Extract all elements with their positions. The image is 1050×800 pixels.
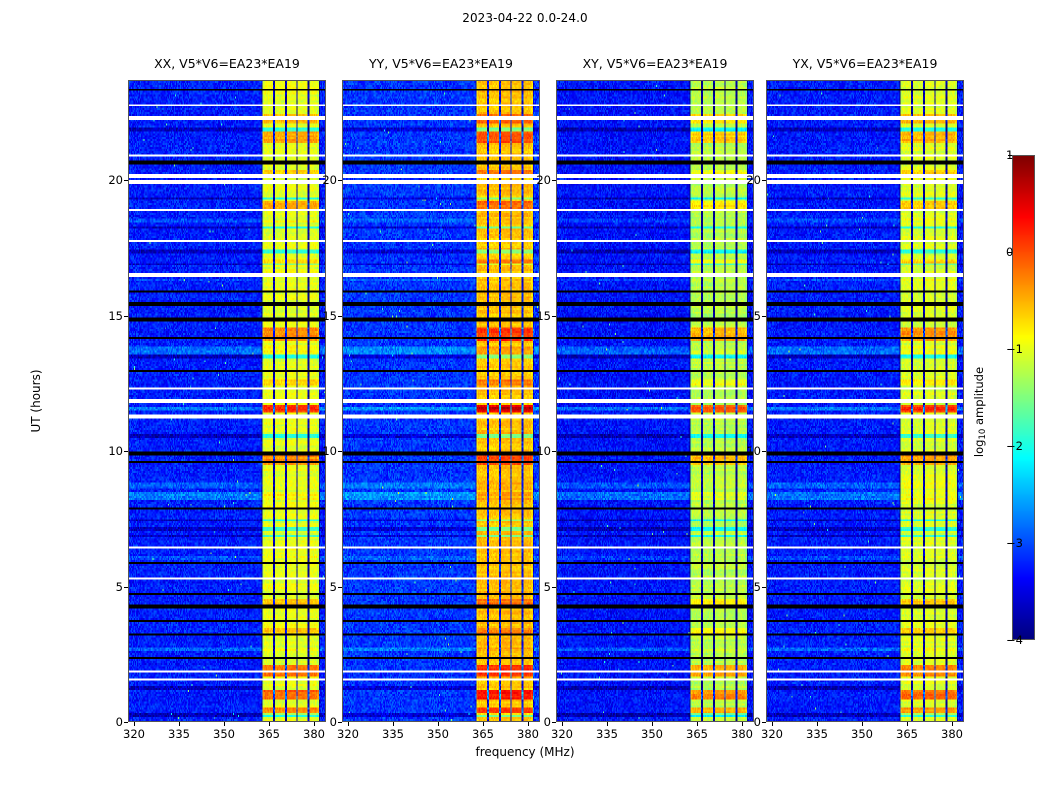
x-tick-mark bbox=[907, 722, 908, 726]
x-tick-mark bbox=[862, 722, 863, 726]
x-tick-mark bbox=[652, 722, 653, 726]
y-tick-mark bbox=[762, 722, 766, 723]
spectrogram-image-yy bbox=[343, 81, 539, 721]
y-tick-mark bbox=[552, 180, 556, 181]
colorbar-tick-mark bbox=[1008, 155, 1012, 156]
colorbar-label-tail: amplitude bbox=[972, 367, 986, 429]
y-tick-label: 15 bbox=[746, 309, 761, 323]
y-tick-mark bbox=[338, 451, 342, 452]
y-tick-label: 15 bbox=[108, 309, 123, 323]
panel-plot-area-yy[interactable] bbox=[342, 80, 540, 722]
y-tick-label: 20 bbox=[536, 173, 551, 187]
y-tick-label: 0 bbox=[116, 715, 123, 729]
spectrogram-panel-xy[interactable]: XY, V5*V6=EA23*EA19320335350365380051015… bbox=[556, 80, 754, 722]
panel-plot-area-xy[interactable] bbox=[556, 80, 754, 722]
x-tick-mark bbox=[817, 722, 818, 726]
x-tick-label: 365 bbox=[686, 727, 708, 741]
colorbar-tick-mark bbox=[1008, 640, 1012, 641]
figure-canvas: 2023-04-22 0.0-24.0 UT (hours) frequency… bbox=[0, 0, 1050, 800]
y-tick-mark bbox=[338, 587, 342, 588]
colorbar-tick-mark bbox=[1008, 446, 1012, 447]
x-tick-label: 350 bbox=[641, 727, 663, 741]
panel-plot-area-yx[interactable] bbox=[766, 80, 964, 722]
y-tick-label: 10 bbox=[108, 444, 123, 458]
x-tick-mark bbox=[179, 722, 180, 726]
y-tick-mark bbox=[762, 587, 766, 588]
x-tick-label: 365 bbox=[472, 727, 494, 741]
x-tick-label: 320 bbox=[551, 727, 573, 741]
y-tick-label: 5 bbox=[330, 580, 337, 594]
x-axis-label: frequency (MHz) bbox=[0, 745, 1050, 759]
y-tick-label: 15 bbox=[322, 309, 337, 323]
x-tick-label: 335 bbox=[596, 727, 618, 741]
x-tick-mark bbox=[393, 722, 394, 726]
colorbar-tick-mark bbox=[1008, 252, 1012, 253]
y-tick-mark bbox=[552, 451, 556, 452]
x-tick-label: 380 bbox=[941, 727, 963, 741]
colorbar-label-main: log bbox=[972, 440, 986, 458]
panel-plot-area-xx[interactable] bbox=[128, 80, 326, 722]
x-tick-label: 350 bbox=[851, 727, 873, 741]
panel-title-yy: YY, V5*V6=EA23*EA19 bbox=[342, 56, 540, 71]
y-tick-mark bbox=[762, 451, 766, 452]
x-tick-mark bbox=[134, 722, 135, 726]
y-tick-label: 20 bbox=[746, 173, 761, 187]
y-tick-label: 10 bbox=[746, 444, 761, 458]
colorbar[interactable] bbox=[1012, 155, 1035, 640]
colorbar-tick-mark bbox=[1008, 349, 1012, 350]
x-tick-mark bbox=[348, 722, 349, 726]
y-tick-label: 20 bbox=[322, 173, 337, 187]
y-tick-mark bbox=[124, 722, 128, 723]
y-tick-mark bbox=[338, 316, 342, 317]
x-tick-mark bbox=[607, 722, 608, 726]
x-tick-mark bbox=[952, 722, 953, 726]
spectrogram-image-yx bbox=[767, 81, 963, 721]
x-tick-mark bbox=[483, 722, 484, 726]
x-tick-label: 350 bbox=[213, 727, 235, 741]
y-tick-label: 5 bbox=[544, 580, 551, 594]
x-tick-label: 335 bbox=[382, 727, 404, 741]
x-tick-label: 380 bbox=[517, 727, 539, 741]
x-tick-label: 350 bbox=[427, 727, 449, 741]
x-tick-label: 335 bbox=[806, 727, 828, 741]
y-tick-label: 10 bbox=[536, 444, 551, 458]
figure-suptitle: 2023-04-22 0.0-24.0 bbox=[0, 11, 1050, 25]
x-tick-label: 380 bbox=[731, 727, 753, 741]
panel-title-xx: XX, V5*V6=EA23*EA19 bbox=[128, 56, 326, 71]
spectrogram-panel-xx[interactable]: XX, V5*V6=EA23*EA19320335350365380051015… bbox=[128, 80, 326, 722]
y-tick-label: 0 bbox=[330, 715, 337, 729]
x-tick-mark bbox=[528, 722, 529, 726]
panel-title-yx: YX, V5*V6=EA23*EA19 bbox=[766, 56, 964, 71]
spectrogram-image-xx bbox=[129, 81, 325, 721]
x-tick-label: 335 bbox=[168, 727, 190, 741]
y-tick-mark bbox=[762, 180, 766, 181]
spectrogram-panel-yx[interactable]: YX, V5*V6=EA23*EA19320335350365380051015… bbox=[766, 80, 964, 722]
y-tick-label: 20 bbox=[108, 173, 123, 187]
x-tick-label: 320 bbox=[761, 727, 783, 741]
x-tick-mark bbox=[269, 722, 270, 726]
colorbar-tick-mark bbox=[1008, 543, 1012, 544]
y-tick-label: 15 bbox=[536, 309, 551, 323]
y-tick-label: 5 bbox=[754, 580, 761, 594]
y-tick-mark bbox=[552, 316, 556, 317]
y-tick-label: 0 bbox=[754, 715, 761, 729]
y-tick-mark bbox=[124, 316, 128, 317]
y-tick-mark bbox=[552, 722, 556, 723]
y-tick-mark bbox=[552, 587, 556, 588]
y-tick-mark bbox=[338, 722, 342, 723]
x-tick-mark bbox=[697, 722, 698, 726]
y-tick-label: 10 bbox=[322, 444, 337, 458]
x-tick-mark bbox=[224, 722, 225, 726]
x-tick-mark bbox=[742, 722, 743, 726]
y-tick-label: 5 bbox=[116, 580, 123, 594]
x-tick-label: 320 bbox=[337, 727, 359, 741]
colorbar-label-subscript: 10 bbox=[978, 429, 988, 440]
x-tick-label: 365 bbox=[896, 727, 918, 741]
y-tick-label: 0 bbox=[544, 715, 551, 729]
x-tick-mark bbox=[314, 722, 315, 726]
y-tick-mark bbox=[338, 180, 342, 181]
x-tick-label: 380 bbox=[303, 727, 325, 741]
spectrogram-panel-yy[interactable]: YY, V5*V6=EA23*EA19320335350365380051015… bbox=[342, 80, 540, 722]
y-tick-mark bbox=[124, 587, 128, 588]
colorbar-gradient bbox=[1013, 156, 1034, 639]
x-tick-mark bbox=[772, 722, 773, 726]
x-tick-mark bbox=[562, 722, 563, 726]
x-tick-label: 365 bbox=[258, 727, 280, 741]
colorbar-label: log10 amplitude bbox=[972, 367, 988, 457]
x-tick-mark bbox=[438, 722, 439, 726]
panel-title-xy: XY, V5*V6=EA23*EA19 bbox=[556, 56, 754, 71]
spectrogram-image-xy bbox=[557, 81, 753, 721]
y-tick-mark bbox=[762, 316, 766, 317]
x-tick-label: 320 bbox=[123, 727, 145, 741]
y-axis-label: UT (hours) bbox=[29, 369, 43, 432]
y-tick-mark bbox=[124, 180, 128, 181]
y-tick-mark bbox=[124, 451, 128, 452]
